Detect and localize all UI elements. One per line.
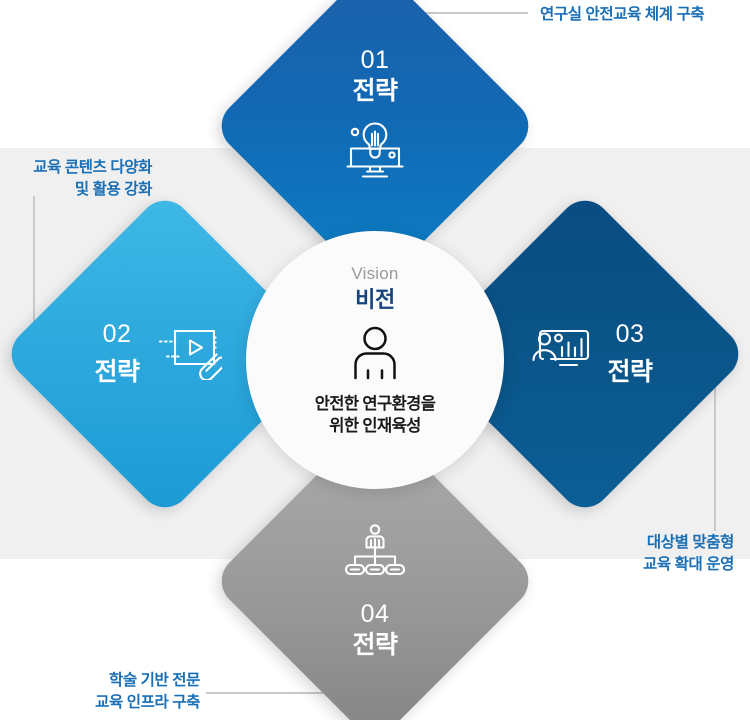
caption-strategy-01: 연구실 안전교육 체계 구축 — [540, 4, 704, 26]
vision-label-en: Vision — [351, 265, 398, 284]
caption-strategy-04: 학술 기반 전문 교육 인프라 구축 — [54, 670, 200, 715]
strategy-word-02: 전략 — [94, 352, 139, 388]
presenter-chart-icon — [529, 325, 591, 384]
strategy-number-01: 01 — [361, 46, 390, 74]
strategy-word-01: 전략 — [352, 77, 397, 105]
strategy-number-02: 02 — [103, 320, 132, 349]
person-icon — [348, 326, 402, 387]
video-attachment-icon — [156, 324, 222, 385]
strategy-content-01: 01 전략 — [259, 10, 491, 242]
vision-circle: Vision 비전 안전한 연구환경을 위한 인재육성 — [246, 231, 504, 489]
strategy-number-03: 03 — [616, 320, 645, 349]
strategy-word-04: 전략 — [352, 631, 397, 659]
vision-description: 안전한 연구환경을 위한 인재육성 — [315, 394, 436, 438]
strategy-word-03: 전략 — [607, 352, 652, 388]
lightbulb-monitor-icon — [343, 121, 407, 186]
infographic-canvas: 연구실 안전교육 체계 구축 교육 콘텐츠 다양화 및 활용 강화 대상별 맞춤… — [0, 0, 750, 720]
org-chart-icon — [344, 523, 406, 584]
caption-strategy-03: 대상별 맞춤형 교육 확대 운영 — [588, 532, 734, 577]
caption-strategy-02: 교육 콘텐츠 다양화 및 활용 강화 — [0, 157, 152, 202]
vision-label-ko: 비전 — [355, 287, 395, 313]
strategy-number-04: 04 — [361, 600, 390, 628]
strategy-content-04: 04 전략 — [259, 465, 491, 697]
